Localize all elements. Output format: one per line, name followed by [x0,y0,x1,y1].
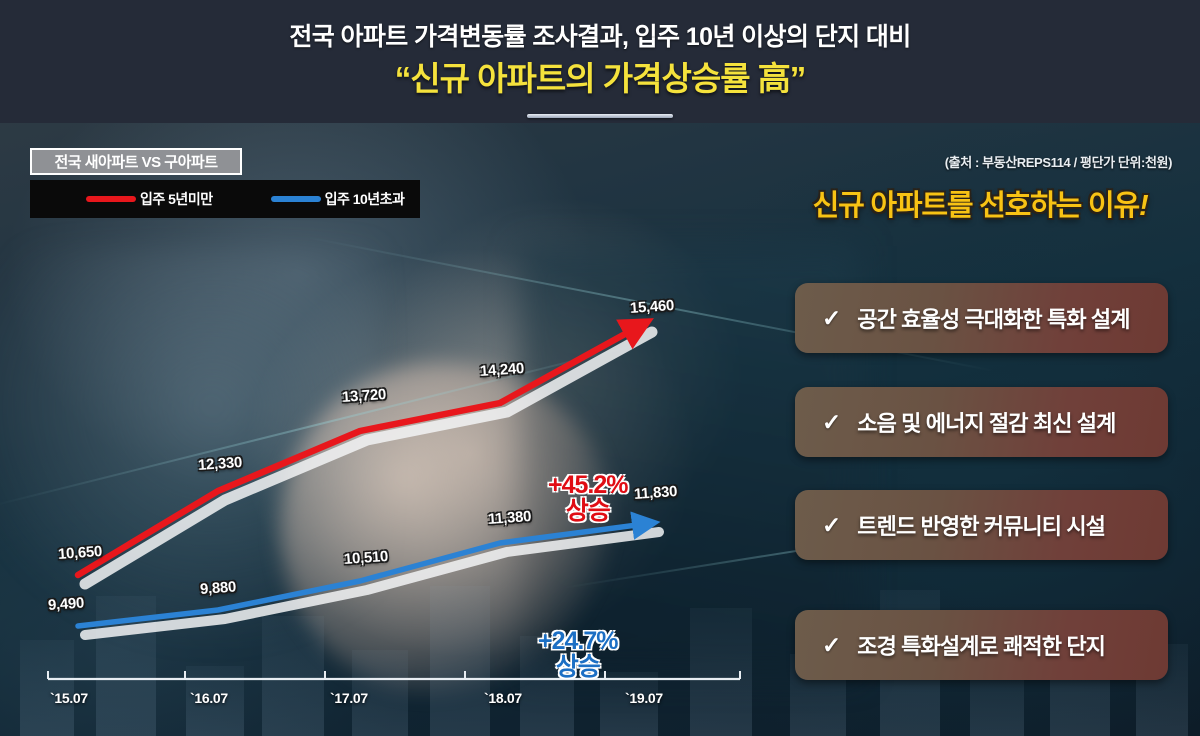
feature-label-1: 공간 효율성 극대화한 특화 설계 [857,302,1129,334]
x-tick-label-3: `18.07 [484,690,522,706]
annotation-new-word: 상승 [548,499,628,525]
feature-label-2: 소음 및 에너지 절감 최신 설계 [857,406,1115,438]
page-title-line2: “신규 아파트의 가격상승률 高” [0,52,1200,100]
x-tick-label-4: `19.07 [625,690,663,706]
annotation-old-word: 상승 [538,655,618,681]
data-label-new-0: 10,650 [57,543,102,563]
annotation-new-pct: +45.2% [548,473,628,499]
infographic-slide: 전국 아파트 가격변동률 조사결과, 입주 10년 이상의 단지 대비 “신규 … [0,0,1200,736]
annotation-old-apartment-growth: +24.7% 상승 [538,629,618,680]
data-label-old-1: 9,880 [199,579,236,598]
feature-item-2[interactable]: ✓ 소음 및 에너지 절감 최신 설계 [795,387,1168,457]
x-tick-label-2: `17.07 [330,690,368,706]
x-tick-label-1: `16.07 [190,690,228,706]
annotation-old-pct: +24.7% [538,629,618,655]
chart-legend: 입주 5년미만 입주 10년초과 [30,180,420,218]
x-tick-label-0: `15.07 [50,690,88,706]
check-icon: ✓ [822,514,841,537]
data-label-new-2: 13,720 [341,386,386,406]
legend-swatch-blue-icon [271,196,321,202]
data-label-new-4: 15,460 [629,297,674,317]
check-icon: ✓ [822,307,841,330]
data-label-old-3: 11,380 [487,508,531,528]
data-label-old-0: 9,490 [47,595,84,614]
feature-item-4[interactable]: ✓ 조경 특화설계로 쾌적한 단지 [795,610,1168,680]
check-icon: ✓ [822,634,841,657]
legend-label-new-apartment: 입주 5년미만 [140,189,213,209]
panel-heading: 신규 아파트를 선호하는 이유! [760,182,1200,224]
check-icon: ✓ [822,411,841,434]
feature-item-1[interactable]: ✓ 공간 효율성 극대화한 특화 설계 [795,283,1168,353]
blue-line-glow [85,532,659,635]
source-note: (출처 : 부동산REPS114 / 평단가 단위:천원) [945,152,1172,171]
feature-label-4: 조경 특화설계로 쾌적한 단지 [857,629,1105,661]
page-title-line1: 전국 아파트 가격변동률 조사결과, 입주 10년 이상의 단지 대비 [0,17,1200,53]
data-label-new-3: 14,240 [479,360,524,380]
feature-item-3[interactable]: ✓ 트렌드 반영한 커뮤니티 시설 [795,490,1168,560]
data-label-new-1: 12,330 [197,454,242,474]
panel-heading-exclamation: ! [1139,190,1147,222]
data-label-old-4: 11,830 [633,483,677,503]
legend-label-old-apartment: 입주 10년초과 [325,189,405,209]
data-label-old-2: 10,510 [343,548,388,568]
legend-item-new-apartment: 입주 5년미만 [86,189,213,209]
chart-legend-title: 전국 새아파트 VS 구아파트 [30,148,242,175]
title-divider [527,114,673,118]
feature-label-3: 트렌드 반영한 커뮤니티 시설 [857,509,1105,541]
legend-item-old-apartment: 입주 10년초과 [271,189,405,209]
header-band: 전국 아파트 가격변동률 조사결과, 입주 10년 이상의 단지 대비 “신규 … [0,0,1200,123]
legend-swatch-red-icon [86,196,136,202]
annotation-new-apartment-growth: +45.2% 상승 [548,473,628,524]
panel-heading-text: 신규 아파트를 선호하는 이유 [813,190,1139,222]
